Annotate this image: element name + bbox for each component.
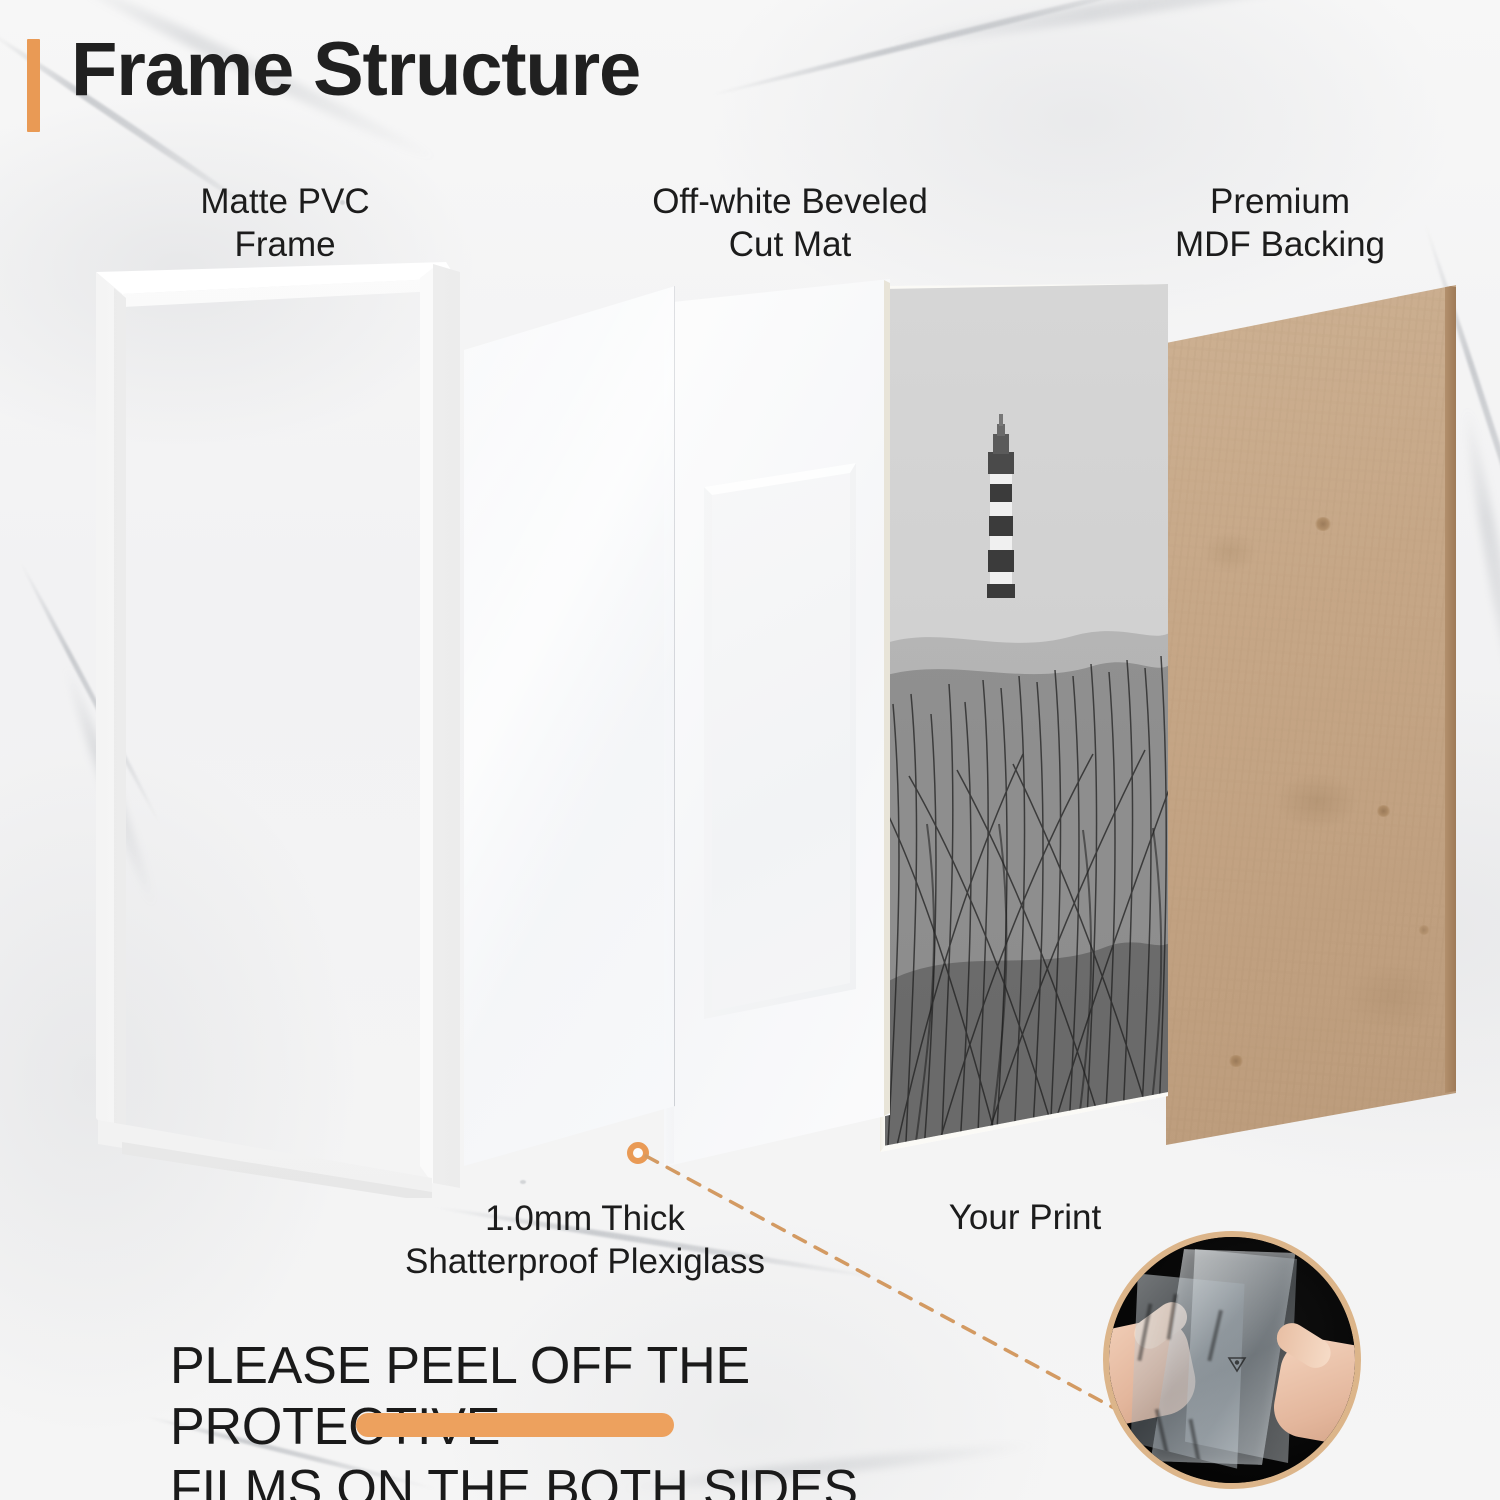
marble-vein — [882, 0, 1477, 55]
film-streak — [1137, 1303, 1152, 1361]
plexiglass-reflection — [460, 286, 675, 1166]
frame-rail-bottom-inner-face — [88, 258, 460, 1198]
cta-line-2-highlight: BOTH SIDES — [545, 1460, 858, 1500]
frame-rail-right-inner-face — [88, 258, 460, 1198]
frame-rail-right — [88, 258, 460, 1198]
frame-rail-top-inner-face — [88, 258, 460, 1198]
film-label-icon — [1227, 1355, 1247, 1373]
marble-speck — [520, 1180, 526, 1184]
film-streak — [1207, 1310, 1223, 1362]
label-your-print: Your Print — [870, 1198, 1180, 1238]
label-mdf-backing: Premium MDF Backing — [1080, 180, 1480, 266]
print-photograph — [883, 284, 1168, 1164]
mdf-backing-layer — [1166, 285, 1456, 1175]
print-layer — [880, 284, 1168, 1164]
mdf-knot — [1376, 805, 1391, 817]
mdf-knot — [1418, 925, 1430, 935]
mat-board-layer — [660, 277, 890, 1167]
film-streak — [1167, 1294, 1178, 1340]
cta-line-2-prefix: FILMS ON THE — [170, 1460, 545, 1500]
callout-marker-icon — [627, 1142, 649, 1164]
frame-rail-left-inner-face — [88, 258, 460, 1198]
peel-film-inset-photo — [1103, 1231, 1361, 1489]
mdf-knot — [1314, 517, 1332, 531]
mdf-right-edge — [1445, 285, 1456, 1175]
infographic-canvas: Frame Structure Matte PVC Frame Off-whit… — [0, 0, 1500, 1500]
page-title: Frame Structure — [71, 32, 640, 108]
pvc-frame-layer — [88, 258, 460, 1198]
frame-rail-left — [88, 258, 460, 1198]
plexiglass-layer — [460, 286, 675, 1166]
cta-line-2: FILMS ON THE BOTH SIDES — [170, 1459, 1050, 1500]
mdf-grain-texture — [1166, 285, 1456, 1175]
label-matte-pvc-frame: Matte PVC Frame — [110, 180, 460, 266]
film-streak — [1188, 1419, 1200, 1463]
label-beveled-cut-mat: Off-white Beveled Cut Mat — [560, 180, 1020, 266]
frame-rail-bottom — [88, 258, 460, 1198]
cta-line-1: PLEASE PEEL OFF THE PROTECTIVE — [170, 1337, 750, 1456]
frame-rail-top — [88, 258, 460, 1198]
lighthouse-illustration — [883, 284, 1168, 1164]
title-accent-bar — [27, 39, 40, 132]
label-shatterproof-plexiglass: 1.0mm Thick Shatterproof Plexiglass — [275, 1197, 895, 1284]
cta-highlight-bar — [356, 1413, 674, 1437]
marble-vein — [1458, 404, 1500, 732]
marble-vein — [707, 0, 1213, 99]
mdf-knot — [1228, 1055, 1244, 1067]
